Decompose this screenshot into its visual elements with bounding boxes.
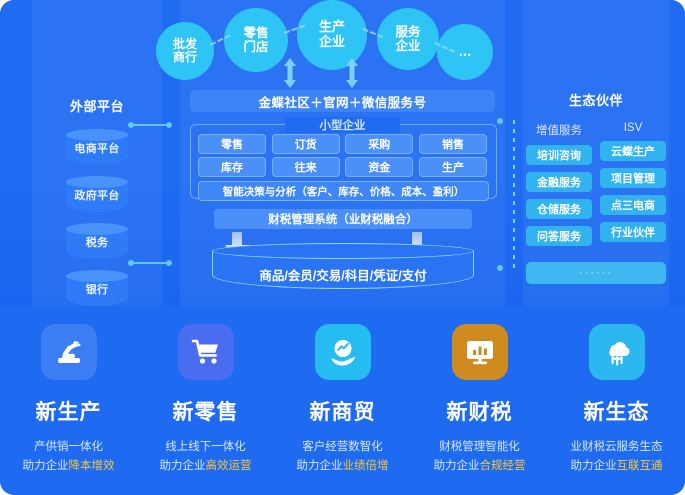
module-ordering[interactable]: 订货	[272, 134, 340, 154]
pillar-sub-highlight: 业绩倍增	[343, 460, 389, 472]
pillar-sub-line2: 助力企业合规经营	[434, 457, 526, 476]
pillar-sub-prefix: 助力企业	[160, 460, 206, 472]
partner-warehouse-service[interactable]: 仓储服务	[526, 199, 592, 219]
pillar-new-production-sub: 产供销一体化 助力企业降本增效	[23, 438, 115, 476]
pillar-new-commerce[interactable]: 新商贸 客户经营数智化 助力企业业绩倍增	[274, 306, 411, 495]
pillar-sub-line1: 线上线下一体化	[160, 438, 252, 457]
cloud-ecosystem-icon-box	[589, 324, 645, 380]
module-purchasing[interactable]: 采购	[345, 134, 413, 154]
pillar-sub-highlight: 合规经营	[480, 460, 526, 472]
left-panel-title: 外部平台	[32, 96, 162, 115]
pillar-new-production-title: 新生产	[36, 396, 102, 426]
center-panel-header: 金蝶社区＋官网＋微信服务号	[190, 90, 495, 112]
sme-section-tag: 小型企业	[285, 117, 400, 133]
right-connector-bottom	[497, 265, 517, 271]
shopping-cart-icon-box	[178, 324, 234, 380]
node-manufacturing-line1: 生产	[319, 20, 345, 35]
external-platform-government-label: 政府平台	[66, 176, 128, 214]
pillar-sub-highlight: 降本增效	[69, 460, 115, 472]
robot-arm-icon	[52, 335, 86, 369]
module-retail[interactable]: 零售	[198, 134, 266, 154]
connector-dot	[166, 260, 172, 266]
partner-financial-service[interactable]: 金融服务	[526, 172, 592, 192]
external-platform-tax[interactable]: 税务	[66, 223, 128, 261]
sync-arrow-right-icon	[345, 58, 359, 88]
connector-dot	[497, 118, 503, 124]
core-database-cylinder: 商品/会员/交易/科目/凭证/支付	[212, 243, 474, 293]
isv-project-management[interactable]: 项目管理	[600, 168, 666, 188]
partner-training-consulting[interactable]: 培训咨询	[526, 145, 592, 165]
sync-arrow-left-icon	[283, 58, 297, 88]
module-production[interactable]: 生产	[419, 157, 487, 177]
pillar-sub-prefix: 助力企业	[571, 460, 617, 472]
isv-cloud-production[interactable]: 云蝶生产	[600, 141, 666, 161]
partners-more-bar[interactable]: ······	[526, 262, 666, 284]
pillar-new-finance-tax[interactable]: 新财税 财税管理智能化 助力企业合规经营	[411, 306, 548, 495]
pillar-sub-prefix: 助力企业	[434, 460, 480, 472]
left-connector-bottom	[128, 260, 172, 266]
partner-column-value-added: 增值服务 培训咨询 金融服务 仓储服务 问答服务	[526, 122, 592, 253]
hand-chart-icon-box	[315, 324, 371, 380]
pillar-new-production[interactable]: 新生产 产供销一体化 助力企业降本增效	[0, 306, 137, 495]
database-label: 商品/会员/交易/科目/凭证/支付	[212, 255, 474, 293]
module-inventory[interactable]: 库存	[198, 157, 266, 177]
pillar-sub-line1: 财税管理智能化	[434, 438, 526, 457]
pillar-new-ecosystem-sub: 业财税云服务生态 助力企业互联互通	[571, 438, 663, 476]
external-platform-bank[interactable]: 银行	[66, 270, 128, 308]
monitor-bar-chart-icon-box	[452, 324, 508, 380]
right-vertical-divider	[513, 120, 515, 270]
left-panel: 外部平台 电商平台 政府平台 税务	[32, 96, 162, 317]
connector-dot	[166, 122, 172, 128]
external-platform-bank-label: 银行	[66, 270, 128, 308]
isv-industry-partners[interactable]: 行业伙伴	[600, 222, 666, 242]
pillar-new-finance-tax-title: 新财税	[447, 396, 513, 426]
pillar-new-retail-sub: 线上线下一体化 助力企业高效运营	[160, 438, 252, 476]
isv-dian-san-ecommerce[interactable]: 点三电商	[600, 195, 666, 215]
pillar-new-finance-tax-sub: 财税管理智能化 助力企业合规经营	[434, 438, 526, 476]
hand-chart-icon	[326, 335, 360, 369]
partner-column-isv: ISV 云蝶生产 项目管理 点三电商 行业伙伴	[600, 122, 666, 253]
pillar-new-ecosystem-title: 新生态	[584, 396, 650, 426]
node-service[interactable]: 服务 企业	[377, 8, 439, 70]
column-head-isv: ISV	[600, 122, 666, 134]
monitor-bar-chart-icon	[463, 335, 497, 369]
external-platform-government[interactable]: 政府平台	[66, 176, 128, 214]
node-service-line2: 企业	[395, 39, 420, 53]
pillar-sub-highlight: 高效运营	[206, 460, 252, 472]
column-head-value-added: 增值服务	[526, 122, 592, 138]
node-manufacturing-line2: 企业	[319, 35, 345, 50]
pillar-sub-prefix: 助力企业	[297, 460, 343, 472]
connector-dot	[497, 265, 503, 271]
pillars-area: 新生产 产供销一体化 助力企业降本增效 新零售 线上线下一体化	[0, 306, 685, 495]
pillar-sub-line1: 业财税云服务生态	[571, 438, 663, 457]
node-more[interactable]: ...	[437, 24, 493, 80]
right-panel: 生态伙伴 增值服务 培训咨询 金融服务 仓储服务 问答服务 ISV 云蝶生产 项…	[523, 90, 669, 253]
module-row-2: 库存 往来 资金 生产	[198, 157, 487, 177]
node-wholesale-line1: 批发	[173, 38, 197, 51]
external-platform-tax-label: 税务	[66, 223, 128, 261]
module-row-1: 零售 订货 采购 销售	[198, 134, 487, 154]
infographic-root: 批发 商行 零售 门店 生产 企业 服务 企业 ...	[0, 0, 685, 495]
pillar-sub-line2: 助力企业降本增效	[23, 457, 115, 476]
pillar-sub-line1: 产供销一体化	[23, 438, 115, 457]
module-sales[interactable]: 销售	[419, 134, 487, 154]
node-retail-store-line1: 零售	[243, 26, 268, 40]
node-wholesale[interactable]: 批发 商行	[156, 22, 214, 80]
pillar-new-commerce-title: 新商贸	[310, 396, 376, 426]
external-platform-ecommerce[interactable]: 电商平台	[66, 129, 128, 167]
module-transactions[interactable]: 往来	[272, 157, 340, 177]
robot-arm-icon-box	[41, 324, 97, 380]
pillar-new-commerce-sub: 客户经营数智化 助力企业业绩倍增	[297, 438, 389, 476]
node-retail-store-line2: 门店	[243, 40, 268, 54]
node-retail-store[interactable]: 零售 门店	[224, 8, 288, 72]
shopping-cart-icon	[189, 335, 223, 369]
architecture-diagram-area: 批发 商行 零售 门店 生产 企业 服务 企业 ...	[0, 0, 685, 306]
node-more-label: ...	[459, 44, 472, 61]
pillar-new-ecosystem[interactable]: 新生态 业财税云服务生态 助力企业互联互通	[548, 306, 685, 495]
connector-line	[134, 262, 166, 264]
partner-qa-service[interactable]: 问答服务	[526, 226, 592, 246]
pillar-sub-highlight: 互联互通	[617, 460, 663, 472]
connector-line	[134, 124, 166, 126]
module-funds[interactable]: 资金	[345, 157, 413, 177]
pillar-new-retail-title: 新零售	[173, 396, 239, 426]
node-service-line1: 服务	[395, 25, 420, 39]
right-connector-top	[497, 118, 517, 124]
pillar-sub-line2: 助力企业业绩倍增	[297, 457, 389, 476]
right-panel-title: 生态伙伴	[523, 90, 669, 109]
node-wholesale-line2: 商行	[173, 51, 197, 64]
pillar-sub-line1: 客户经营数智化	[297, 438, 389, 457]
external-platform-ecommerce-label: 电商平台	[66, 129, 128, 167]
analytics-bar[interactable]: 智能决策与分析（客户、库存、价格、成本、盈利）	[198, 181, 489, 201]
left-connector-top	[128, 122, 172, 128]
cloud-ecosystem-icon	[600, 335, 634, 369]
finance-tax-system-bar[interactable]: 财税管理系统（业财税融合）	[214, 209, 472, 229]
pillar-sub-line2: 助力企业互联互通	[571, 457, 663, 476]
pillar-new-retail[interactable]: 新零售 线上线下一体化 助力企业高效运营	[137, 306, 274, 495]
pillar-sub-line2: 助力企业高效运营	[160, 457, 252, 476]
pillar-sub-prefix: 助力企业	[23, 460, 69, 472]
